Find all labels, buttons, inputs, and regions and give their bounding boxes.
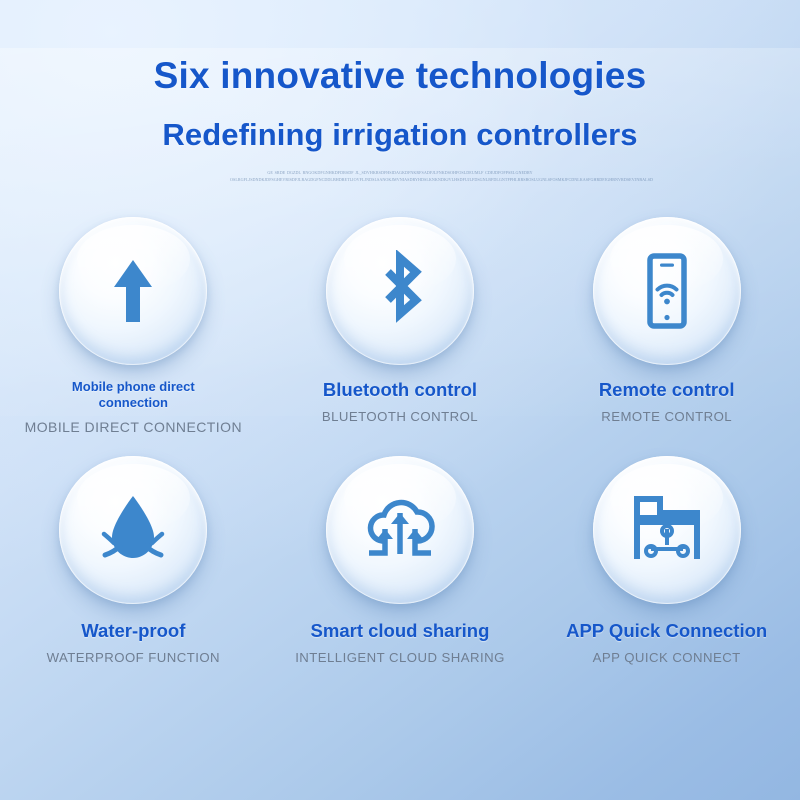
- feature-labels: Mobile phone direct connection MOBILE DI…: [13, 379, 253, 436]
- folder-network-icon: [627, 491, 707, 569]
- feature-labels: Remote control REMOTE CONTROL: [547, 379, 787, 425]
- feature-icon-circle: [59, 217, 207, 365]
- feature-grid: Mobile phone direct connection MOBILE DI…: [0, 217, 800, 666]
- feature-card-app-quick-connection[interactable]: APP Quick Connection APP QUICK CONNECT: [533, 456, 800, 666]
- feature-labels: APP Quick Connection APP QUICK CONNECT: [547, 620, 787, 666]
- bluetooth-icon: [364, 250, 436, 332]
- arrow-up-icon: [96, 254, 170, 328]
- feature-subtitle: INTELLIGENT CLOUD SHARING: [280, 650, 520, 667]
- feature-labels: Water-proof WATERPROOF FUNCTION: [13, 620, 253, 666]
- feature-card-bluetooth-control[interactable]: Bluetooth control BLUETOOTH CONTROL: [267, 217, 534, 436]
- cloud-upload-arrows-icon: [355, 491, 445, 569]
- feature-subtitle: REMOTE CONTROL: [547, 409, 787, 426]
- feature-card-water-proof[interactable]: Water-proof WATERPROOF FUNCTION: [0, 456, 267, 666]
- phone-wifi-icon: [629, 251, 705, 331]
- decorative-paragraph: GE SRDE DGZDL RNGOKDFGNHKDFDRSDF JL_SDVH…: [230, 169, 570, 184]
- feature-title: APP Quick Connection: [547, 620, 787, 643]
- page-subtitle: Redefining irrigation controllers: [0, 118, 800, 152]
- feature-subtitle: MOBILE DIRECT CONNECTION: [13, 419, 253, 437]
- feature-icon-circle: [593, 456, 741, 604]
- header: Six innovative technologies Redefining i…: [0, 0, 800, 183]
- feature-labels: Bluetooth control BLUETOOTH CONTROL: [280, 379, 520, 425]
- page-title: Six innovative technologies: [0, 56, 800, 96]
- feature-subtitle: WATERPROOF FUNCTION: [13, 650, 253, 667]
- feature-icon-circle: [326, 456, 474, 604]
- feature-card-mobile-direct-connection[interactable]: Mobile phone direct connection MOBILE DI…: [0, 217, 267, 436]
- feature-subtitle: APP QUICK CONNECT: [547, 650, 787, 667]
- feature-title-line-2: connection: [13, 395, 253, 411]
- feature-subtitle: BLUETOOTH CONTROL: [280, 409, 520, 426]
- feature-card-remote-control[interactable]: Remote control REMOTE CONTROL: [533, 217, 800, 436]
- feature-card-smart-cloud-sharing[interactable]: Smart cloud sharing INTELLIGENT CLOUD SH…: [267, 456, 534, 666]
- poster-canvas: Six innovative technologies Redefining i…: [0, 0, 800, 800]
- feature-icon-circle: [59, 456, 207, 604]
- feature-title: Remote control: [547, 379, 787, 402]
- feature-icon-circle: [326, 217, 474, 365]
- feature-title: Water-proof: [13, 620, 253, 643]
- feature-title: Smart cloud sharing: [280, 620, 520, 643]
- feature-labels: Smart cloud sharing INTELLIGENT CLOUD SH…: [280, 620, 520, 666]
- feature-title-line-1: Mobile phone direct: [13, 379, 253, 395]
- water-drop-splash-icon: [90, 490, 176, 570]
- feature-title: Bluetooth control: [280, 379, 520, 402]
- feature-icon-circle: [593, 217, 741, 365]
